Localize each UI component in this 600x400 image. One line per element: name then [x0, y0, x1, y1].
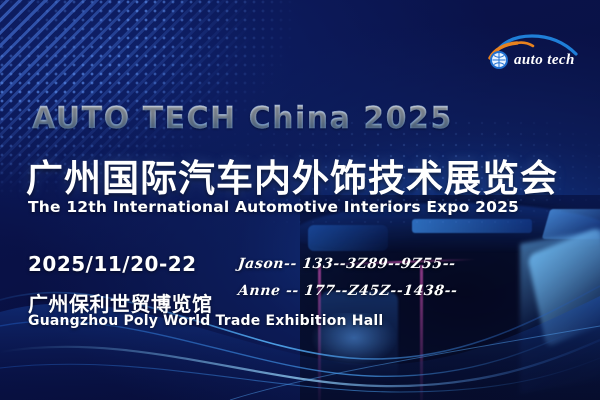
event-date: 2025/11/20-22	[28, 252, 197, 276]
auto-tech-poster: auto tech AUTO TECH China 2025 广州国际汽车内外饰…	[0, 0, 600, 400]
contact-jason: Jason-- 133--3Z89--9Z55--	[237, 256, 456, 272]
logo-wordmark: auto tech	[514, 52, 575, 69]
subtitle-english: The 12th International Automotive Interi…	[28, 198, 519, 216]
title-chinese: 广州国际汽车内外饰技术展览会	[26, 148, 558, 202]
venue-english: Guangzhou Poly World Trade Exhibition Ha…	[28, 313, 383, 329]
title-english: AUTO TECH China 2025	[32, 101, 453, 136]
car-front-accent-icon	[517, 43, 533, 46]
contact-anne: Anne -- 177--Z45Z--1438--	[237, 283, 458, 299]
auto-tech-logo[interactable]: auto tech	[484, 30, 584, 76]
wave-ribbons	[0, 260, 600, 400]
